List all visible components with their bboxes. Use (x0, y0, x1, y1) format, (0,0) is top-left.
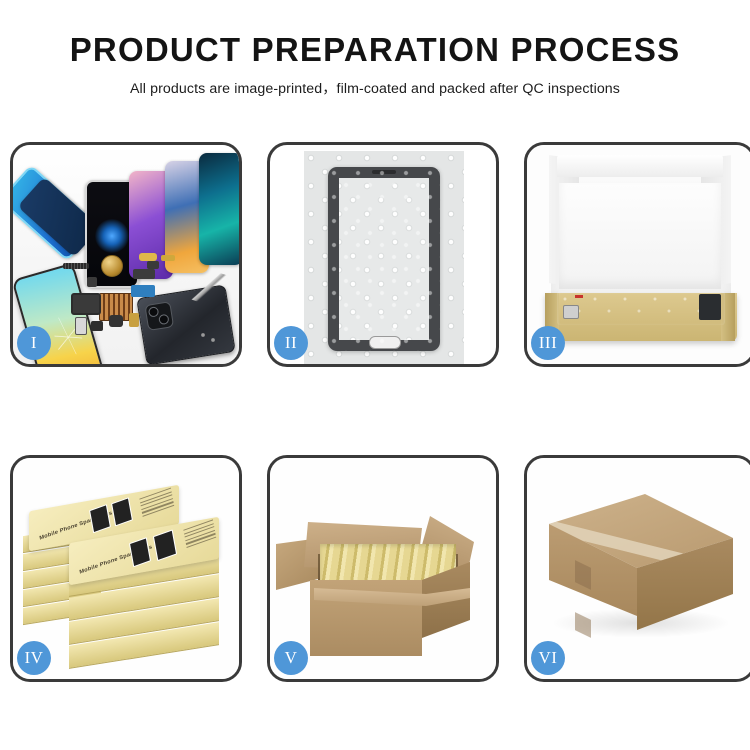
gold-connector-icon (161, 255, 175, 261)
process-step-panel-5[interactable]: V (267, 455, 499, 682)
speaker-unit-icon (109, 315, 123, 327)
process-step-panel-6[interactable]: VI (524, 455, 750, 682)
flex-cable-icon (71, 293, 101, 315)
step-badge-4: IV (17, 641, 51, 675)
dark-flex-icon (133, 269, 155, 279)
camera-lens-icon (144, 301, 174, 331)
box-stack-scene: Mobile Phone Spare Parts (13, 458, 239, 679)
product-connector-icon (563, 305, 579, 319)
step-4-image: Mobile Phone Spare Parts (13, 458, 239, 679)
small-part-icon (91, 321, 103, 331)
step-badge-5: V (274, 641, 308, 675)
red-marker-icon (575, 295, 583, 298)
process-step-grid: I II (10, 142, 740, 682)
gold-contact-icon (129, 313, 139, 327)
process-step-panel-2[interactable]: II (267, 142, 499, 367)
bubble-gloss-overlay (328, 167, 440, 351)
box-spec-lines-2 (183, 519, 216, 550)
gold-flex-icon (139, 253, 157, 261)
page-header: PRODUCT PREPARATION PROCESS All products… (0, 0, 750, 98)
screws-icon (199, 331, 221, 345)
step-5-image (270, 458, 496, 679)
page-title: PRODUCT PREPARATION PROCESS (0, 33, 750, 68)
sensor-part-icon (147, 261, 159, 269)
process-step-panel-4[interactable]: Mobile Phone Spare Parts (10, 455, 242, 682)
bubble-wrap-photo (304, 151, 464, 364)
step-badge-6: VI (531, 641, 565, 675)
blue-flex-icon (131, 285, 155, 297)
wrapped-product-icon (557, 291, 725, 325)
box-product-image-4 (153, 529, 177, 561)
box-lid-top-icon (557, 155, 723, 177)
teal-phone-screen-icon (199, 153, 239, 265)
speaker-mesh-icon (63, 263, 89, 269)
vibration-motor-icon (101, 255, 123, 277)
product-preparation-page: PRODUCT PREPARATION PROCESS All products… (0, 0, 750, 750)
step-badge-3: III (531, 326, 565, 360)
foam-insert-icon (559, 183, 721, 289)
tiny-part-icon (87, 277, 97, 287)
page-subtitle: All products are image-printed，film-coat… (0, 78, 750, 98)
open-carton-scene (270, 458, 496, 679)
box-product-image-3 (129, 537, 151, 567)
step-badge-2: II (274, 326, 308, 360)
step-badge-1: I (17, 326, 51, 360)
process-step-panel-3[interactable]: III (524, 142, 750, 367)
process-step-panel-1[interactable]: I (10, 142, 242, 367)
product-dark-end-icon (699, 294, 721, 320)
battery-connector-icon (75, 317, 87, 335)
